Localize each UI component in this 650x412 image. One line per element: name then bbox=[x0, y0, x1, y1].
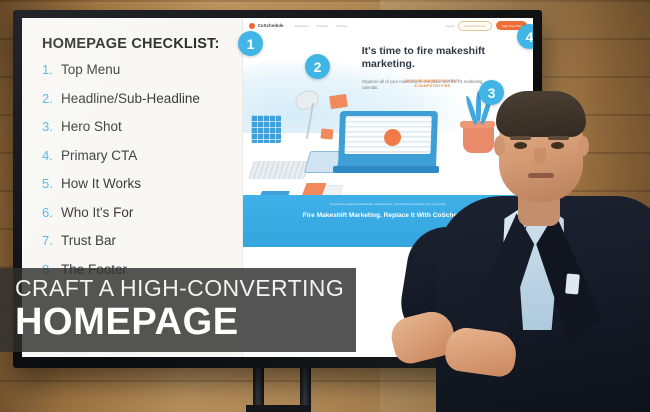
list-item-number: 3. bbox=[42, 119, 61, 134]
presenter-brow-left bbox=[510, 136, 531, 140]
nav-right-group: Log In Request A Demo Start Free Trial bbox=[446, 21, 527, 31]
page-title: HOMEPAGE CHECKLIST: bbox=[42, 36, 220, 52]
nav-links: Solutions Product Pricing bbox=[295, 24, 347, 28]
presenter-eye-left bbox=[514, 142, 527, 149]
laptop-illustration bbox=[338, 111, 438, 167]
presenter-brow-right bbox=[548, 136, 569, 140]
video-frame: HOMEPAGE CHECKLIST: 1. Top Menu 2. Headl… bbox=[0, 0, 650, 412]
list-item-label: Who It's For bbox=[61, 205, 133, 220]
number-badge-2: 2 bbox=[305, 54, 330, 79]
list-item: 1. Top Menu bbox=[42, 62, 252, 77]
list-item: 4. Primary CTA bbox=[42, 148, 252, 163]
tv-stand-base bbox=[246, 405, 310, 412]
nav-link-pricing[interactable]: Pricing bbox=[336, 24, 347, 28]
caption-line-2: HOMEPAGE bbox=[15, 303, 239, 341]
caption-line-1: CRAFT A HIGH-CONVERTING bbox=[15, 275, 344, 302]
presenter-eye-right bbox=[551, 142, 564, 149]
presenter-mouth bbox=[528, 173, 554, 178]
number-badge-1: 1 bbox=[238, 31, 263, 56]
list-item-number: 2. bbox=[42, 91, 61, 106]
list-item-number: 4. bbox=[42, 148, 61, 163]
list-item-label: Top Menu bbox=[61, 62, 120, 77]
list-item-label: Trust Bar bbox=[61, 233, 116, 248]
list-item: 7. Trust Bar bbox=[42, 233, 252, 248]
sticky-note-small bbox=[321, 128, 334, 139]
list-item-label: Primary CTA bbox=[61, 148, 137, 163]
list-item-label: Hero Shot bbox=[61, 119, 122, 134]
login-link[interactable]: Log In bbox=[446, 24, 455, 28]
list-item-number: 7. bbox=[42, 233, 61, 248]
list-item: 3. Hero Shot bbox=[42, 119, 252, 134]
nav-link-product[interactable]: Product bbox=[317, 24, 329, 28]
presenter-lapel-mic bbox=[565, 273, 580, 294]
list-item: 2. Headline/Sub-Headline bbox=[42, 91, 252, 106]
hero-headline: It's time to fire makeshift marketing. bbox=[362, 45, 513, 71]
list-item: 6. Who It's For bbox=[42, 205, 252, 220]
list-item: 5. How It Works bbox=[42, 176, 252, 191]
sticky-note-top bbox=[329, 94, 348, 109]
presenter-hair bbox=[496, 91, 586, 137]
keyboard-illustration bbox=[248, 161, 310, 179]
presenter-ear-left bbox=[494, 136, 505, 156]
presenter-ear-right bbox=[578, 136, 589, 156]
presenter-nose bbox=[534, 148, 546, 165]
request-demo-button[interactable]: Request A Demo bbox=[458, 21, 492, 31]
calendar-illustration bbox=[251, 115, 281, 143]
list-item-number: 5. bbox=[42, 176, 61, 191]
list-item-label: Headline/Sub-Headline bbox=[61, 91, 200, 106]
list-item-number: 1. bbox=[42, 62, 61, 77]
laptop-play-badge bbox=[383, 129, 401, 146]
logo-text: CoSchedule bbox=[258, 23, 284, 28]
list-item-number: 6. bbox=[42, 205, 61, 220]
presenter bbox=[430, 78, 650, 412]
laptop-base bbox=[333, 166, 439, 173]
website-nav-bar: CoSchedule Solutions Product Pricing Log… bbox=[243, 18, 533, 34]
nav-link-solutions[interactable]: Solutions bbox=[295, 24, 309, 28]
caption-overlay: CRAFT A HIGH-CONVERTING HOMEPAGE bbox=[0, 268, 356, 352]
list-item-label: How It Works bbox=[61, 176, 141, 191]
coschedule-logo-icon bbox=[249, 23, 255, 29]
homepage-checklist: 1. Top Menu 2. Headline/Sub-Headline 3. … bbox=[42, 62, 252, 290]
